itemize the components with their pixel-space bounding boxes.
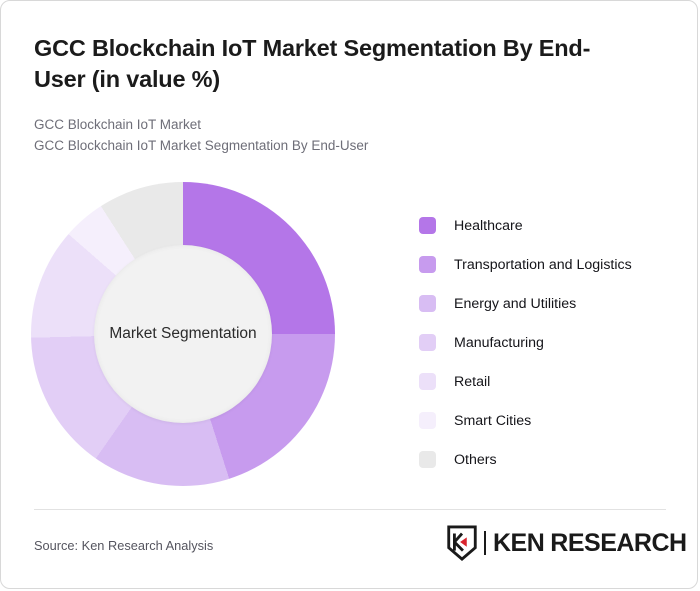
legend-label: Energy and Utilities <box>454 296 576 312</box>
legend-item[interactable]: Smart Cities <box>419 401 674 440</box>
legend-item[interactable]: Manufacturing <box>419 323 674 362</box>
donut-center-label: Market Segmentation <box>109 325 256 343</box>
footer-divider <box>34 509 666 510</box>
legend-swatch <box>419 412 436 429</box>
chart-card: GCC Blockchain IoT Market Segmentation B… <box>0 0 698 589</box>
source-note: Source: Ken Research Analysis <box>34 538 213 553</box>
legend-item[interactable]: Retail <box>419 362 674 401</box>
chart-legend: HealthcareTransportation and LogisticsEn… <box>419 206 674 479</box>
logo-wordmark: KEN RESEARCH <box>493 531 687 556</box>
subtitle-market: GCC Blockchain IoT Market <box>34 115 201 135</box>
donut-chart: Market Segmentation <box>26 176 346 496</box>
logo-word-ken: KEN <box>493 531 544 556</box>
legend-swatch <box>419 256 436 273</box>
legend-label: Transportation and Logistics <box>454 257 632 273</box>
legend-swatch <box>419 373 436 390</box>
subtitle-segmentation: GCC Blockchain IoT Market Segmentation B… <box>34 136 368 156</box>
legend-swatch <box>419 217 436 234</box>
legend-item[interactable]: Energy and Utilities <box>419 284 674 323</box>
legend-label: Others <box>454 452 497 468</box>
page-title: GCC Blockchain IoT Market Segmentation B… <box>34 33 634 96</box>
legend-item[interactable]: Others <box>419 440 674 479</box>
legend-label: Smart Cities <box>454 413 531 429</box>
donut-center: Market Segmentation <box>94 245 272 423</box>
legend-swatch <box>419 451 436 468</box>
logo-separator <box>484 531 486 555</box>
legend-swatch <box>419 295 436 312</box>
ken-research-shield-icon <box>445 525 479 561</box>
donut-ring-wrapper: Market Segmentation <box>31 182 335 486</box>
legend-label: Healthcare <box>454 218 523 234</box>
logo-word-research: RESEARCH <box>550 531 686 556</box>
legend-label: Manufacturing <box>454 335 544 351</box>
ken-research-logo: KEN RESEARCH <box>445 525 687 561</box>
legend-swatch <box>419 334 436 351</box>
legend-item[interactable]: Transportation and Logistics <box>419 245 674 284</box>
legend-label: Retail <box>454 374 490 390</box>
legend-item[interactable]: Healthcare <box>419 206 674 245</box>
